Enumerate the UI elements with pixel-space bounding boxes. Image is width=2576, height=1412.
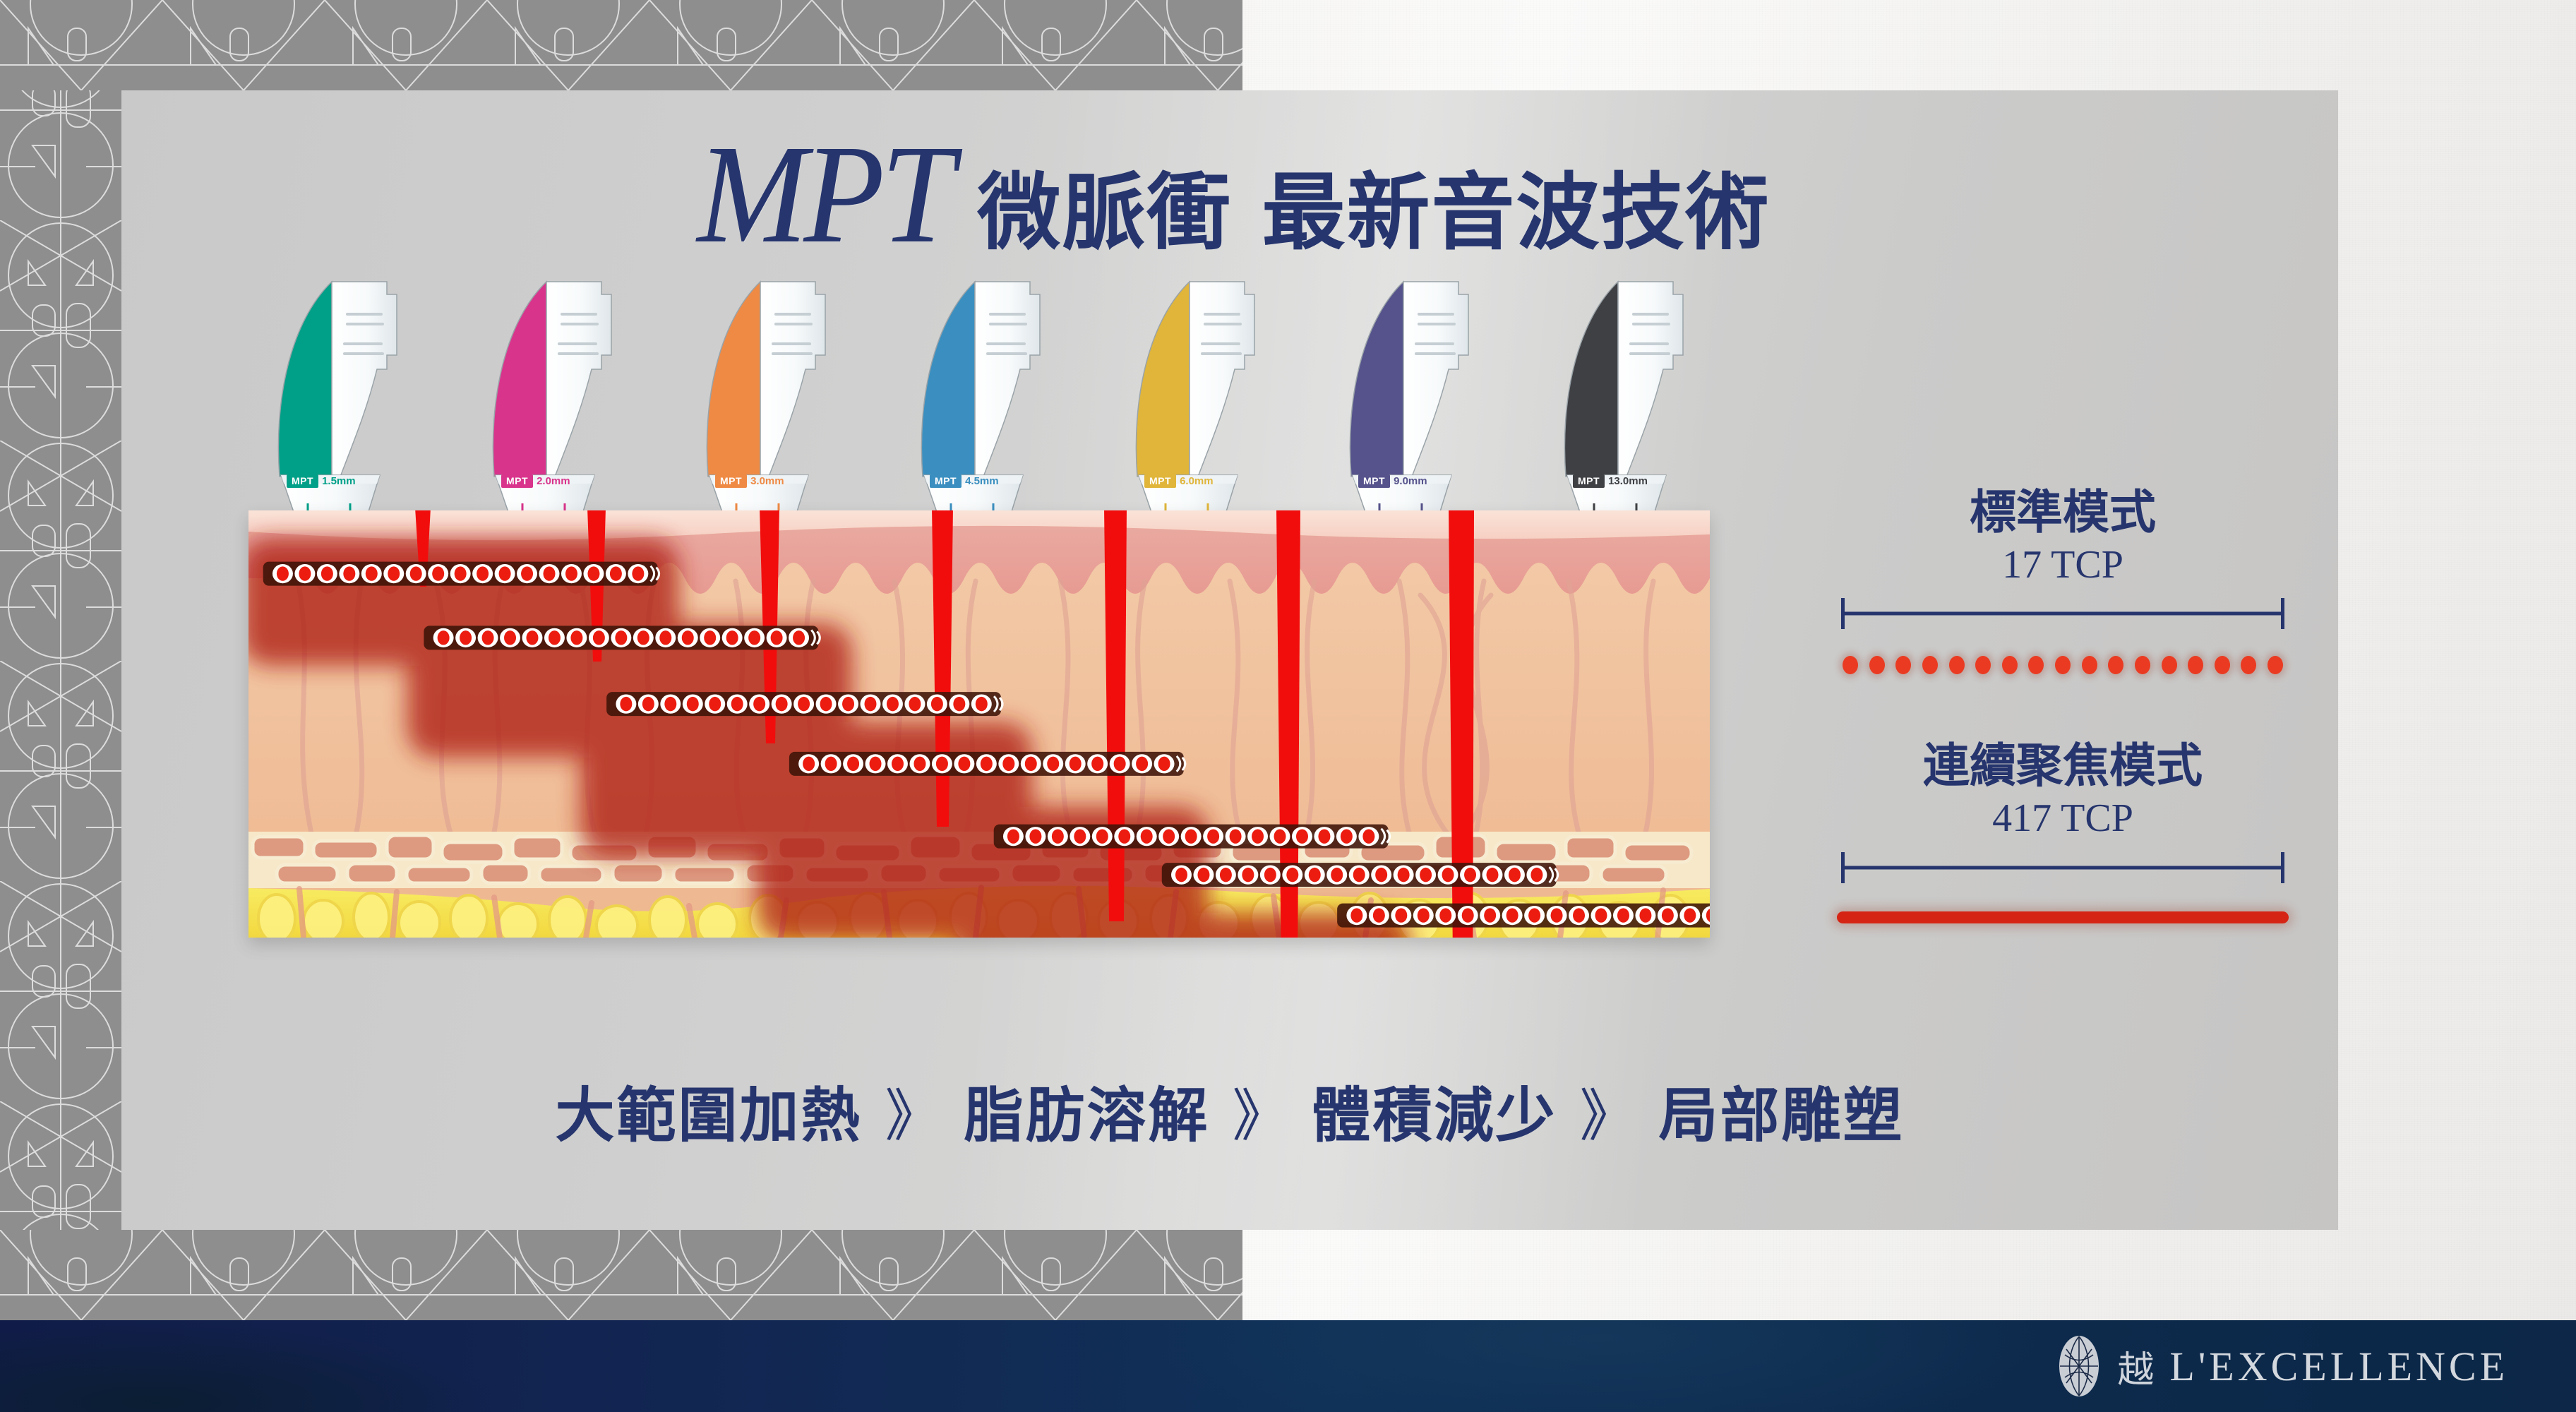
legend-block-1: 標準模式17 TCP	[1837, 486, 2289, 674]
flow-step-4: 局部雕塑	[1659, 1068, 1905, 1154]
cartridge-label-6.0mm: MPT6.0mm	[1144, 474, 1214, 488]
process-flow: 大範圍加熱》脂肪溶解》體積減少》局部雕塑	[121, 1068, 2338, 1154]
legend-value: 417 TCP	[1837, 797, 2289, 841]
cartridge-badge: MPT	[1358, 474, 1390, 488]
cartridge-size: 9.0mm	[1394, 476, 1427, 486]
legend-block-2: 連續聚焦模式417 TCP	[1837, 739, 2289, 923]
brand-lockup: 越 L'EXCELLENCE	[2056, 1334, 2508, 1399]
tcp-zone-13.0mm	[1337, 904, 1710, 928]
tcp-zone-6.0mm	[994, 825, 1390, 849]
legend-bracket	[1841, 598, 2284, 629]
skin-diagram-wrapper	[248, 510, 1710, 938]
flow-arrow-icon: 》	[877, 1070, 948, 1152]
cartridge-badge: MPT	[715, 474, 747, 488]
tcp-zone-9.0mm	[1162, 863, 1558, 887]
cartridge-6.0mm[interactable]: MPT6.0mm	[1106, 270, 1281, 519]
legend-dot	[1975, 656, 1991, 674]
slide-root: MPT 微脈衝 最新音波技術 MPT1.5mmMPT2.0mmMPT3.0mmM…	[0, 0, 2576, 1412]
legend-dot	[2028, 656, 2044, 674]
flow-step-1: 大範圍加熱	[555, 1068, 862, 1154]
legend-solid-bar	[1837, 911, 2289, 923]
brand-emblem-icon	[2056, 1334, 2102, 1399]
legend-dot	[2162, 656, 2177, 674]
flow-step-3: 體積減少	[1312, 1068, 1557, 1154]
cartridge-9.0mm[interactable]: MPT9.0mm	[1320, 270, 1495, 519]
slide-card: MPT 微脈衝 最新音波技術 MPT1.5mmMPT2.0mmMPT3.0mmM…	[121, 90, 2338, 1230]
cartridge-label-2.0mm: MPT2.0mm	[501, 474, 570, 488]
cartridge-label-1.5mm: MPT1.5mm	[287, 474, 356, 488]
legend-dot	[2108, 656, 2123, 674]
cartridge-2.0mm[interactable]: MPT2.0mm	[463, 270, 638, 519]
legend-title: 連續聚焦模式	[1837, 739, 2289, 793]
legend-dot	[1895, 656, 1911, 674]
cartridge-badge: MPT	[287, 474, 318, 488]
legend-dot	[1869, 656, 1885, 674]
brand-cjk-mark: 越	[2117, 1340, 2154, 1393]
page-title: MPT 微脈衝 最新音波技術	[121, 124, 2338, 265]
legend-dot	[2241, 656, 2256, 674]
legend-title: 標準模式	[1837, 486, 2289, 539]
legend-value: 17 TCP	[1837, 544, 2289, 587]
lattice-pattern-top	[0, 0, 1242, 90]
cartridge-1.5mm[interactable]: MPT1.5mm	[248, 270, 424, 519]
legend-bracket	[1841, 852, 2284, 883]
cartridge-size: 4.5mm	[965, 476, 999, 486]
legend-dot	[2135, 656, 2150, 674]
cartridge-size: 2.0mm	[537, 476, 570, 486]
cartridge-3.0mm[interactable]: MPT3.0mm	[677, 270, 852, 519]
title-mark: MPT	[697, 124, 951, 265]
flow-arrow-icon: 》	[1226, 1070, 1296, 1152]
legend-dot	[2268, 656, 2283, 674]
brand-bar: 越 L'EXCELLENCE	[0, 1320, 2576, 1412]
legend-dot	[1949, 656, 1965, 674]
legend-dot	[1843, 656, 1858, 674]
title-subtitle: 微脈衝 最新音波技術	[977, 171, 1770, 254]
cartridge-row: MPT1.5mmMPT2.0mmMPT3.0mmMPT4.5mmMPT6.0mm…	[248, 270, 1710, 525]
flow-arrow-icon: 》	[1573, 1070, 1643, 1152]
cartridge-label-4.5mm: MPT4.5mm	[930, 474, 999, 488]
skin-cross-section	[248, 510, 1710, 938]
cartridge-label-3.0mm: MPT3.0mm	[715, 474, 784, 488]
brand-name: L'EXCELLENCE	[2169, 1343, 2508, 1390]
cartridge-size: 3.0mm	[750, 476, 784, 486]
cartridge-4.5mm[interactable]: MPT4.5mm	[892, 270, 1067, 519]
legend-dot	[2055, 656, 2071, 674]
cartridge-13.0mm[interactable]: MPT13.0mm	[1535, 270, 1710, 519]
lattice-pattern-bottom	[0, 1230, 1242, 1320]
lattice-pattern-left	[0, 0, 121, 1320]
cartridge-badge: MPT	[1573, 474, 1605, 488]
cartridge-badge: MPT	[501, 474, 533, 488]
legend-dot	[2002, 656, 2018, 674]
cartridge-size: 6.0mm	[1180, 476, 1214, 486]
legend-dot	[2215, 656, 2230, 674]
legend-dot	[2082, 656, 2097, 674]
mode-legend: 標準模式17 TCP連續聚焦模式417 TCP	[1837, 486, 2289, 988]
legend-dot-pattern	[1837, 656, 2289, 674]
tcp-zone-4.5mm	[789, 752, 1185, 776]
cartridge-label-13.0mm: MPT13.0mm	[1573, 474, 1648, 488]
tcp-zone-2.0mm	[424, 626, 820, 650]
flow-step-2: 脂肪溶解	[964, 1068, 1209, 1154]
cartridge-size: 13.0mm	[1608, 476, 1648, 486]
tcp-zone-1.5mm	[263, 562, 659, 586]
legend-dot	[1922, 656, 1938, 674]
cartridge-label-9.0mm: MPT9.0mm	[1358, 474, 1427, 488]
tcp-zone-3.0mm	[606, 692, 1002, 716]
cartridge-size: 1.5mm	[322, 476, 356, 486]
cartridge-badge: MPT	[930, 474, 961, 488]
cartridge-badge: MPT	[1144, 474, 1176, 488]
legend-dot	[2188, 656, 2203, 674]
